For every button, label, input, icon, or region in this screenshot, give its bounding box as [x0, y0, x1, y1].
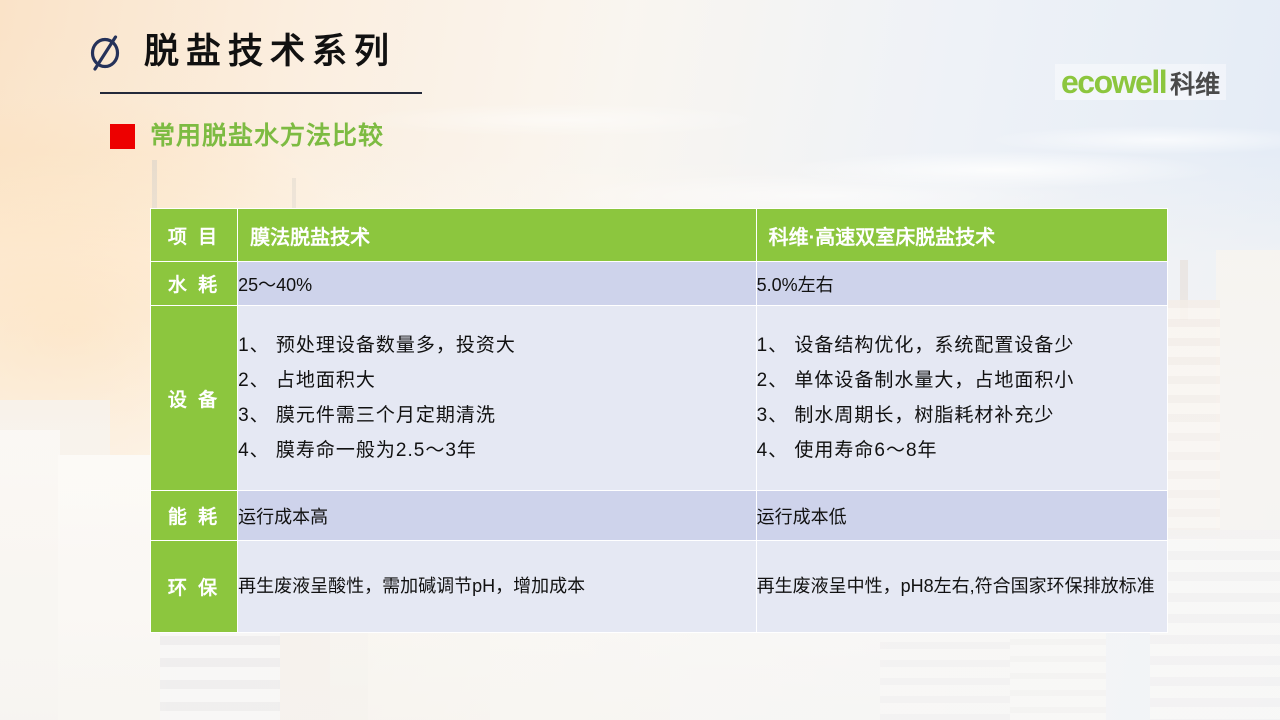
table-row: 水 耗 25～40% 5.0%左右 [151, 262, 1168, 306]
list-item: 2、 单体设备制水量大，占地面积小 [757, 363, 1167, 398]
row-equipment-col-a: 1、 预处理设备数量多，投资大 2、 占地面积大 3、 膜元件需三个月定期清洗 … [238, 306, 757, 491]
phi-slash-icon [88, 28, 122, 74]
list-item: 4、 使用寿命6～8年 [757, 433, 1167, 468]
row-water-col-a: 25～40% [238, 262, 757, 306]
page-title-row: 脱盐技术系列 [88, 28, 396, 74]
list-item: 2、 占地面积大 [238, 363, 756, 398]
title-underline [100, 92, 422, 94]
list-item: 1、 预处理设备数量多，投资大 [238, 328, 756, 363]
row-label-equipment: 设 备 [151, 306, 238, 491]
row-label-environment: 环 保 [151, 541, 238, 633]
page-title: 脱盐技术系列 [144, 34, 396, 69]
header-cell-label: 项 目 [151, 209, 238, 262]
row-label-energy: 能 耗 [151, 491, 238, 541]
list-item: 4、 膜寿命一般为2.5～3年 [238, 433, 756, 468]
logo-latin-text: ecowell [1061, 66, 1166, 98]
table-row: 环 保 再生废液呈酸性，需加碱调节pH，增加成本 再生废液呈中性，pH8左右,符… [151, 541, 1168, 633]
equipment-list-a: 1、 预处理设备数量多，投资大 2、 占地面积大 3、 膜元件需三个月定期清洗 … [238, 328, 756, 468]
table-row: 能 耗 运行成本高 运行成本低 [151, 491, 1168, 541]
list-item: 1、 设备结构优化，系统配置设备少 [757, 328, 1167, 363]
table-header-row: 项 目 膜法脱盐技术 科维·高速双室床脱盐技术 [151, 209, 1168, 262]
row-energy-col-b: 运行成本低 [756, 491, 1167, 541]
red-square-bullet-icon [110, 124, 135, 149]
header-cell-col-b: 科维·高速双室床脱盐技术 [756, 209, 1167, 262]
subtitle-row: 常用脱盐水方法比较 [110, 124, 384, 149]
comparison-table: 项 目 膜法脱盐技术 科维·高速双室床脱盐技术 水 耗 25～40% 5.0%左… [150, 208, 1168, 633]
row-label-water: 水 耗 [151, 262, 238, 306]
subtitle: 常用脱盐水方法比较 [150, 124, 384, 149]
brand-logo: ecowell 科维 [1055, 64, 1226, 100]
row-environment-col-b: 再生废液呈中性，pH8左右,符合国家环保排放标准 [756, 541, 1167, 633]
row-energy-col-a: 运行成本高 [238, 491, 757, 541]
header-cell-col-a: 膜法脱盐技术 [238, 209, 757, 262]
row-equipment-col-b: 1、 设备结构优化，系统配置设备少 2、 单体设备制水量大，占地面积小 3、 制… [756, 306, 1167, 491]
list-item: 3、 膜元件需三个月定期清洗 [238, 398, 756, 433]
logo-chinese-text: 科维 [1170, 73, 1220, 98]
table-row: 设 备 1、 预处理设备数量多，投资大 2、 占地面积大 3、 膜元件需三个月定… [151, 306, 1168, 491]
list-item: 3、 制水周期长，树脂耗材补充少 [757, 398, 1167, 433]
row-water-col-b: 5.0%左右 [756, 262, 1167, 306]
slide-root: 脱盐技术系列 常用脱盐水方法比较 ecowell 科维 项 目 膜法脱盐技术 科… [0, 0, 1280, 720]
row-environment-col-a: 再生废液呈酸性，需加碱调节pH，增加成本 [238, 541, 757, 633]
equipment-list-b: 1、 设备结构优化，系统配置设备少 2、 单体设备制水量大，占地面积小 3、 制… [757, 328, 1167, 468]
